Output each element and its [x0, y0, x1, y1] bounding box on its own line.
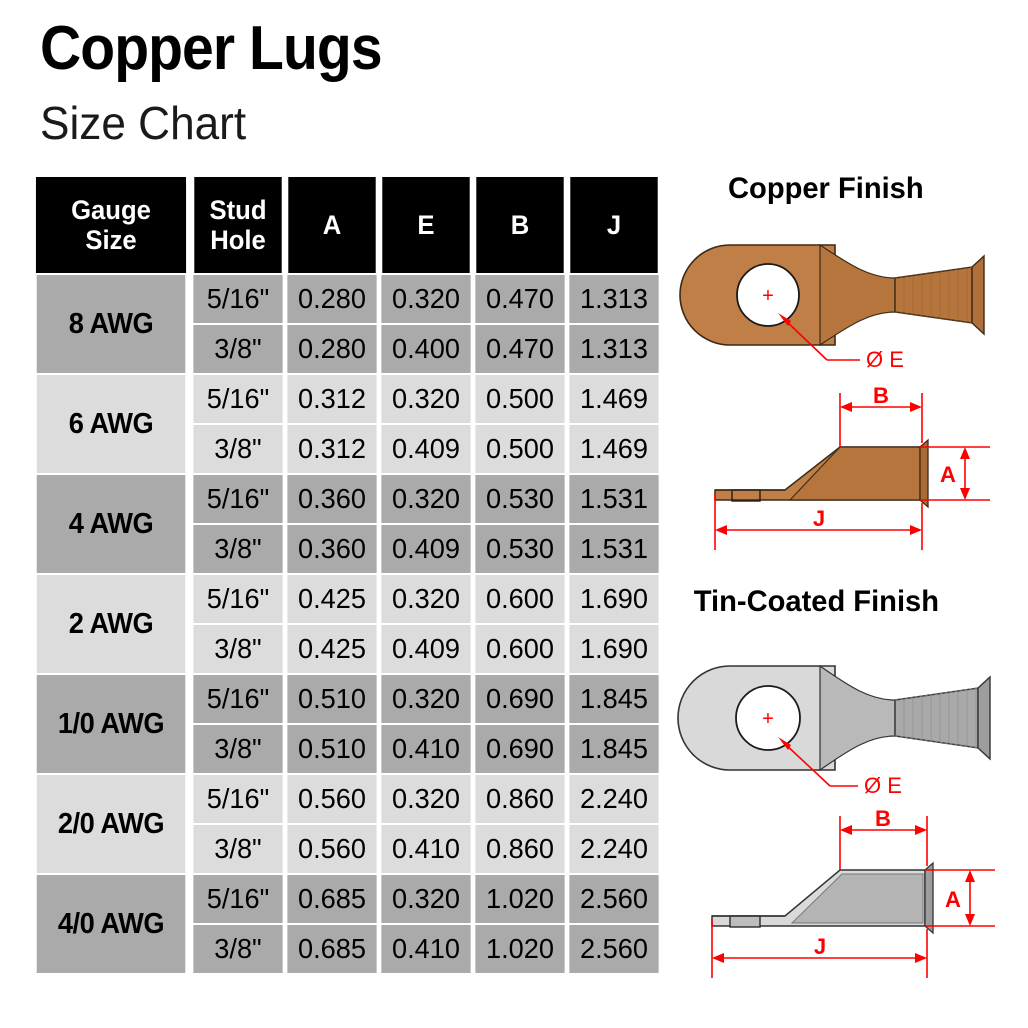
- gauge-size-cell: 4/0 AWG: [37, 875, 186, 973]
- value-cell-b: 0.470: [475, 325, 564, 373]
- value-cell-e: 0.320: [381, 375, 470, 423]
- copper-dimension-j-label: J: [813, 506, 825, 531]
- gauge-size-cell: 8 AWG: [37, 275, 186, 373]
- value-cell-a: 0.360: [287, 475, 376, 523]
- table-row: 2 AWG5/16"0.4250.3200.6001.690: [32, 575, 660, 623]
- value-cell-j: 1.845: [569, 725, 658, 773]
- tin-lug-side-view: B A J: [690, 808, 1025, 988]
- stud-hole-cell: 3/8": [193, 625, 282, 673]
- value-cell-b: 0.530: [475, 475, 564, 523]
- table-body: 8 AWG5/16"0.2800.3200.4701.3133/8"0.2800…: [32, 275, 660, 973]
- gauge-size-cell: 1/0 AWG: [37, 675, 186, 773]
- tin-hole-center-mark: +: [762, 708, 774, 730]
- value-cell-e: 0.409: [381, 525, 470, 573]
- stud-hole-cell: 5/16": [193, 375, 282, 423]
- value-cell-b: 0.470: [475, 275, 564, 323]
- column-header-a: A: [288, 177, 375, 273]
- table-row: 2/0 AWG5/16"0.5600.3200.8602.240: [32, 775, 660, 823]
- value-cell-a: 0.560: [287, 775, 376, 823]
- tin-dimension-j-label: J: [814, 934, 826, 959]
- value-cell-a: 0.280: [287, 275, 376, 323]
- value-cell-b: 0.600: [475, 625, 564, 673]
- stud-hole-cell: 5/16": [193, 775, 282, 823]
- stud-hole-cell: 3/8": [193, 825, 282, 873]
- value-cell-e: 0.320: [381, 475, 470, 523]
- value-cell-j: 2.560: [569, 875, 658, 923]
- value-cell-a: 0.280: [287, 325, 376, 373]
- table-row: 6 AWG5/16"0.3120.3200.5001.469: [32, 375, 660, 423]
- value-cell-j: 1.690: [569, 625, 658, 673]
- value-cell-b: 0.690: [475, 675, 564, 723]
- value-cell-b: 0.500: [475, 375, 564, 423]
- copper-hole-dimension-label: Ø E: [866, 347, 904, 372]
- value-cell-a: 0.510: [287, 725, 376, 773]
- copper-lug-side-body: [715, 440, 928, 507]
- table-row: 4 AWG5/16"0.3600.3200.5301.531: [32, 475, 660, 523]
- stud-hole-cell: 3/8": [193, 425, 282, 473]
- value-cell-j: 1.531: [569, 525, 658, 573]
- value-cell-j: 1.690: [569, 575, 658, 623]
- copper-dimension-b-label: B: [873, 383, 889, 408]
- value-cell-e: 0.409: [381, 425, 470, 473]
- copper-lug-side-view: B A J: [690, 385, 1020, 560]
- tin-lug-body: [678, 666, 990, 770]
- stud-hole-cell: 3/8": [193, 325, 282, 373]
- value-cell-j: 2.240: [569, 775, 658, 823]
- value-cell-e: 0.410: [381, 725, 470, 773]
- column-header-gauge-line1: Gauge: [36, 195, 186, 225]
- value-cell-a: 0.510: [287, 675, 376, 723]
- table-row: 8 AWG5/16"0.2800.3200.4701.313: [32, 275, 660, 323]
- value-cell-a: 0.312: [287, 425, 376, 473]
- gauge-size-cell: 6 AWG: [37, 375, 186, 473]
- value-cell-b: 0.500: [475, 425, 564, 473]
- value-cell-e: 0.409: [381, 625, 470, 673]
- stud-hole-cell: 3/8": [193, 925, 282, 973]
- value-cell-j: 1.845: [569, 675, 658, 723]
- stud-hole-cell: 5/16": [193, 875, 282, 923]
- copper-finish-title: Copper Finish: [728, 172, 924, 206]
- size-chart-table-wrapper: Gauge Size Stud Hole A E B J 8 AWG5/16"0…: [30, 175, 652, 975]
- tin-lug-top-view: + Ø E: [690, 638, 1025, 808]
- stud-hole-cell: 5/16": [193, 275, 282, 323]
- size-chart-page: Copper Lugs Size Chart Gauge Size Stud H…: [0, 0, 1028, 1028]
- value-cell-a: 0.312: [287, 375, 376, 423]
- table-header-row: Gauge Size Stud Hole A E B J: [32, 177, 660, 273]
- value-cell-e: 0.320: [381, 575, 470, 623]
- page-subtitle: Size Chart: [40, 100, 246, 146]
- value-cell-b: 1.020: [475, 925, 564, 973]
- value-cell-e: 0.320: [381, 775, 470, 823]
- value-cell-a: 0.425: [287, 575, 376, 623]
- column-header-b: B: [476, 177, 563, 273]
- value-cell-b: 0.600: [475, 575, 564, 623]
- column-header-stud-line1: Stud: [194, 195, 281, 225]
- value-cell-e: 0.400: [381, 325, 470, 373]
- value-cell-j: 2.560: [569, 925, 658, 973]
- value-cell-e: 0.320: [381, 875, 470, 923]
- tin-coated-finish-panel: Tin-Coated Finish: [690, 583, 1025, 1003]
- tin-dimension-a-label: A: [945, 887, 961, 912]
- table-header: Gauge Size Stud Hole A E B J: [32, 177, 660, 273]
- copper-dimension-a-label: A: [940, 462, 956, 487]
- value-cell-b: 0.530: [475, 525, 564, 573]
- stud-hole-cell: 5/16": [193, 675, 282, 723]
- gauge-size-cell: 2 AWG: [37, 575, 186, 673]
- copper-hole-center-mark: +: [762, 285, 774, 307]
- page-title: Copper Lugs: [40, 18, 382, 80]
- copper-lug-top-view: + Ø E: [690, 220, 1020, 380]
- stud-hole-cell: 3/8": [193, 525, 282, 573]
- value-cell-e: 0.320: [381, 275, 470, 323]
- value-cell-b: 0.690: [475, 725, 564, 773]
- value-cell-j: 1.469: [569, 425, 658, 473]
- value-cell-j: 1.313: [569, 325, 658, 373]
- column-header-stud-hole: Stud Hole: [194, 177, 281, 273]
- stud-hole-cell: 5/16": [193, 575, 282, 623]
- value-cell-a: 0.685: [287, 925, 376, 973]
- copper-lug-body: [680, 245, 984, 345]
- tin-coated-finish-title: Tin-Coated Finish: [694, 585, 939, 619]
- value-cell-j: 1.531: [569, 475, 658, 523]
- gauge-size-cell: 2/0 AWG: [37, 775, 186, 873]
- column-header-j: J: [570, 177, 657, 273]
- size-chart-table: Gauge Size Stud Hole A E B J 8 AWG5/16"0…: [30, 175, 662, 975]
- value-cell-j: 1.313: [569, 275, 658, 323]
- value-cell-a: 0.685: [287, 875, 376, 923]
- tin-hole-dimension-label: Ø E: [864, 773, 902, 798]
- stud-hole-cell: 3/8": [193, 725, 282, 773]
- column-header-gauge-size: Gauge Size: [36, 177, 186, 273]
- column-header-stud-line2: Hole: [194, 225, 281, 255]
- table-row: 4/0 AWG5/16"0.6850.3201.0202.560: [32, 875, 660, 923]
- tin-lug-side-body: [712, 863, 933, 933]
- value-cell-e: 0.320: [381, 675, 470, 723]
- value-cell-b: 0.860: [475, 775, 564, 823]
- gauge-size-cell: 4 AWG: [37, 475, 186, 573]
- value-cell-a: 0.360: [287, 525, 376, 573]
- table-row: 1/0 AWG5/16"0.5100.3200.6901.845: [32, 675, 660, 723]
- value-cell-a: 0.560: [287, 825, 376, 873]
- value-cell-e: 0.410: [381, 825, 470, 873]
- value-cell-j: 2.240: [569, 825, 658, 873]
- value-cell-j: 1.469: [569, 375, 658, 423]
- value-cell-b: 0.860: [475, 825, 564, 873]
- copper-finish-panel: Copper Finish: [690, 165, 1020, 565]
- value-cell-b: 1.020: [475, 875, 564, 923]
- value-cell-e: 0.410: [381, 925, 470, 973]
- value-cell-a: 0.425: [287, 625, 376, 673]
- column-header-gauge-line2: Size: [36, 225, 186, 255]
- stud-hole-cell: 5/16": [193, 475, 282, 523]
- column-header-e: E: [382, 177, 469, 273]
- tin-dimension-b-label: B: [875, 806, 891, 831]
